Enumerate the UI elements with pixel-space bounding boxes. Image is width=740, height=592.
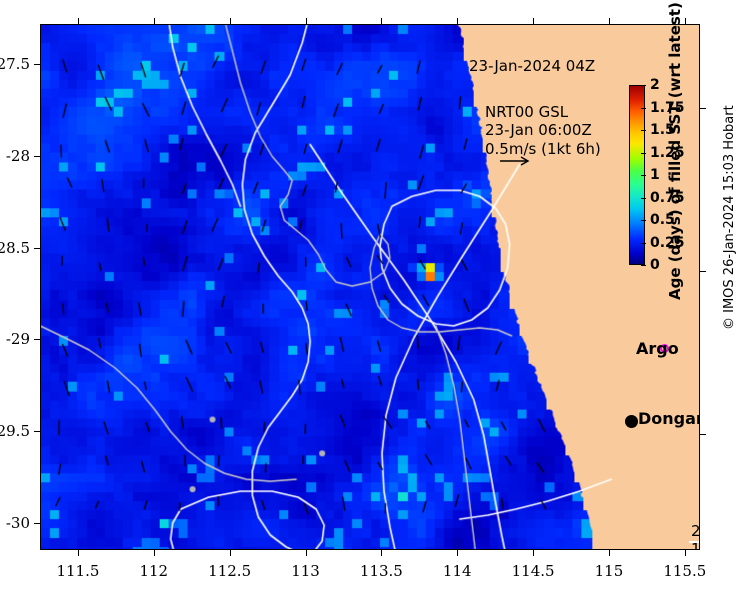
x-tick-mark [457,550,458,556]
y-axis-label: -29 [6,330,30,348]
colorbar-tick-label: 0.5 [645,212,675,228]
colorbar-tick-label: 1.5 [645,122,675,138]
x-tick-mark-top [533,18,534,24]
x-axis-label: 111.5 [56,562,99,580]
y-tick-mark [34,523,40,524]
x-tick-mark-top [306,18,307,24]
x-axis-label: 112.5 [208,562,251,580]
x-tick-mark [533,550,534,556]
y-tick-mark [34,64,40,65]
colorbar-tick-mark [641,108,646,109]
depth-200m-label: 200m [691,523,700,541]
y-tick-mark [34,156,40,157]
x-axis-label: 113.5 [360,562,403,580]
x-tick-mark-top [685,18,686,24]
dongara-label: Dongara [638,409,700,428]
colorbar-tick-label: 0.25 [645,235,685,251]
y-axis-label: -28.5 [0,239,30,257]
colorbar-tick-label: 0.75 [645,190,685,206]
y-tick-mark [34,248,40,249]
x-axis-label: 112 [139,562,168,580]
x-axis-label: 113 [291,562,320,580]
colorbar-tick-mark [641,175,646,176]
colorbar-tick-mark [641,130,646,131]
depth-legend: 200m 1000m [691,523,700,550]
argo-label: Argo [636,339,679,358]
colorbar-tick-mark [641,265,646,266]
x-tick-mark [609,550,610,556]
current-vector-legend: NRT00 GSL 23-Jan 06:00Z 0.5m/s (1kt 6h) [485,103,601,158]
x-axis-label: 115.5 [663,562,706,580]
vector-time-label: 23-Jan 06:00Z [485,121,601,139]
x-tick-mark-top [457,18,458,24]
x-tick-mark [381,550,382,556]
map-plot-area[interactable]: 23-Jan-2024 04Z NRT00 GSL 23-Jan 06:00Z … [40,24,700,550]
depth-1000m-label: 1000m [691,541,700,550]
y-axis-label: -28 [6,147,30,165]
y-tick-mark [34,339,40,340]
colorbar-tick-mark [641,243,646,244]
x-tick-mark-top [381,18,382,24]
colorbar-tick-label: 1.25 [645,145,685,161]
x-tick-mark-top [78,18,79,24]
dongara-marker[interactable] [625,415,638,428]
colorbar-tick-label: 1.75 [645,100,685,116]
timestamp-label: 23-Jan-2024 04Z [469,57,595,75]
y-tick-mark [34,431,40,432]
y-axis-label: -30 [6,514,30,532]
x-axis-label: 115 [595,562,624,580]
colorbar-tick-label: 2 [645,77,660,93]
x-axis-label: 114 [443,562,472,580]
colorbar-tick-mark [641,153,646,154]
x-tick-mark [230,550,231,556]
imos-sst-age-map: 23-Jan-2024 04Z NRT00 GSL 23-Jan 06:00Z … [0,0,740,592]
colorbar-tick-label: 1 [645,167,660,183]
y-axis-label: -27.5 [0,55,30,73]
colorbar-tick-mark [641,198,646,199]
x-tick-mark [685,550,686,556]
x-tick-mark-top [154,18,155,24]
colorbar-tick-mark [641,220,646,221]
right-tick-mark [700,271,706,272]
x-tick-mark [78,550,79,556]
x-tick-mark-top [609,18,610,24]
x-tick-mark-top [230,18,231,24]
credit-label: © IMOS 26-Jan-2024 15:03 Hobart [722,105,737,330]
x-tick-mark [306,550,307,556]
colorbar-tick-mark [641,85,646,86]
x-tick-mark [154,550,155,556]
colorbar-tick-label: 0 [645,257,660,273]
right-tick-mark [700,108,706,109]
x-axis-label: 114.5 [512,562,555,580]
y-axis-label: -29.5 [0,422,30,440]
right-arrow-icon [499,155,533,167]
right-tick-mark [700,434,706,435]
vector-source-label: NRT00 GSL [485,103,601,121]
